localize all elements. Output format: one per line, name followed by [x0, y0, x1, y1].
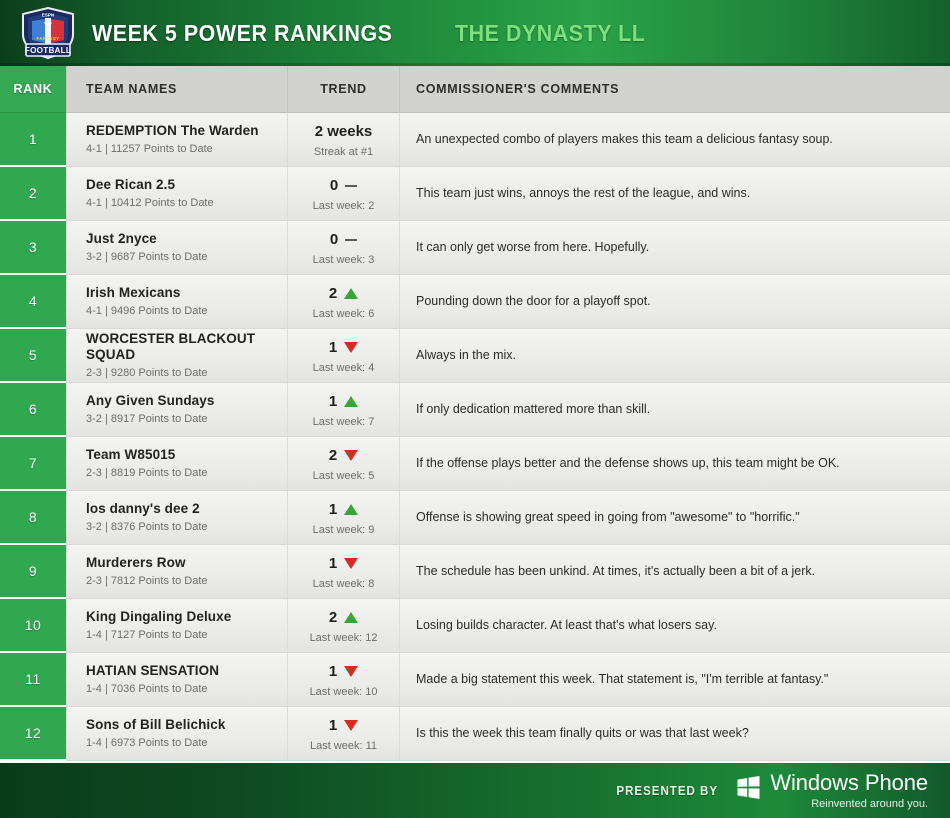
rank-cell: 2: [0, 167, 66, 221]
trend-subtext: Last week: 8: [313, 578, 375, 590]
team-record-points: 3-2 | 8376 Points to Date: [86, 521, 287, 534]
trend-up-icon: [344, 612, 358, 623]
trend-up-icon: [344, 396, 358, 407]
trend-value: 2: [329, 447, 337, 464]
sponsor-text: Windows Phone Reinvented around you.: [770, 772, 928, 810]
column-header-team-names[interactable]: TEAM NAMES: [66, 66, 287, 113]
team-name: Murderers Row: [86, 555, 287, 571]
trend-cell: 1Last week: 10: [287, 653, 399, 707]
team-record-points: 3-2 | 9687 Points to Date: [86, 251, 287, 264]
svg-text:ESPN: ESPN: [42, 12, 55, 17]
league-name: THE DYNASTY LL: [455, 20, 645, 47]
commissioner-comment: Pounding down the door for a playoff spo…: [416, 293, 936, 310]
trend-value-row: 2: [329, 284, 358, 303]
commissioner-comment: Always in the mix.: [416, 347, 936, 364]
trend-value: 1: [329, 501, 337, 518]
trend-value: 1: [329, 339, 337, 356]
column-header-rank[interactable]: RANK: [0, 66, 66, 113]
table-row[interactable]: 3Just 2nyce3-2 | 9687 Points to Date0Las…: [0, 221, 950, 275]
trend-value-row: 1: [329, 554, 358, 573]
table-row[interactable]: 2Dee Rican 2.54-1 | 10412 Points to Date…: [0, 167, 950, 221]
trend-cell: 0Last week: 2: [287, 167, 399, 221]
commissioner-comment: This team just wins, annoys the rest of …: [416, 185, 936, 202]
table-row[interactable]: 6Any Given Sundays3-2 | 8917 Points to D…: [0, 383, 950, 437]
svg-text:FOOTBALL: FOOTBALL: [25, 46, 71, 55]
commissioner-comment: If only dedication mattered more than sk…: [416, 401, 936, 418]
power-rankings-page: ESPN FANTASY FOOTBALL WEEK 5 POWER RANKI…: [0, 0, 950, 818]
team-cell[interactable]: Sons of Bill Belichick1-4 | 6973 Points …: [66, 707, 287, 761]
commissioner-comment: Is this the week this team finally quits…: [416, 725, 936, 742]
table-row[interactable]: 11HATIAN SENSATION1-4 | 7036 Points to D…: [0, 653, 950, 707]
comment-cell: Always in the mix.: [399, 329, 950, 383]
team-cell[interactable]: los danny's dee 23-2 | 8376 Points to Da…: [66, 491, 287, 545]
page-title: WEEK 5 POWER RANKINGS: [92, 20, 393, 47]
rank-cell: 6: [0, 383, 66, 437]
team-name: Irish Mexicans: [86, 285, 287, 301]
trend-value-row: 0: [330, 230, 357, 249]
team-record-points: 2-3 | 8819 Points to Date: [86, 467, 287, 480]
trend-value-row: 2 weeks: [315, 122, 373, 141]
table-row[interactable]: 7Team W850152-3 | 8819 Points to Date2La…: [0, 437, 950, 491]
windows-logo-icon: [736, 775, 761, 800]
table-body: 1REDEMPTION The Warden4-1 | 11257 Points…: [0, 113, 950, 761]
comment-cell: This team just wins, annoys the rest of …: [399, 167, 950, 221]
comment-cell: If the offense plays better and the defe…: [399, 437, 950, 491]
trend-cell: 1Last week: 11: [287, 707, 399, 761]
page-header: ESPN FANTASY FOOTBALL WEEK 5 POWER RANKI…: [0, 0, 950, 66]
commissioner-comment: Made a big statement this week. That sta…: [416, 671, 936, 688]
trend-cell: 0Last week: 3: [287, 221, 399, 275]
rank-cell: 4: [0, 275, 66, 329]
team-name: REDEMPTION The Warden: [86, 123, 287, 139]
sponsor-lockup[interactable]: Windows Phone Reinvented around you.: [736, 772, 928, 810]
trend-value: 2: [329, 285, 337, 302]
trend-value: 2: [329, 609, 337, 626]
commissioner-comment: An unexpected combo of players makes thi…: [416, 131, 936, 148]
espn-fantasy-football-logo-icon: ESPN FANTASY FOOTBALL: [19, 7, 77, 59]
team-record-points: 1-4 | 7036 Points to Date: [86, 683, 287, 696]
comment-cell: If only dedication mattered more than sk…: [399, 383, 950, 437]
trend-value: 1: [329, 393, 337, 410]
comment-cell: Is this the week this team finally quits…: [399, 707, 950, 761]
team-name: HATIAN SENSATION: [86, 663, 287, 679]
team-record-points: 4-1 | 9496 Points to Date: [86, 305, 287, 318]
trend-down-icon: [344, 450, 358, 461]
team-record-points: 1-4 | 7127 Points to Date: [86, 629, 287, 642]
trend-cell: 2 weeksStreak at #1: [287, 113, 399, 167]
trend-value: 0: [330, 177, 338, 194]
trend-value-row: 2: [329, 446, 358, 465]
table-row[interactable]: 9Murderers Row2-3 | 7812 Points to Date1…: [0, 545, 950, 599]
trend-value-row: 1: [329, 716, 358, 735]
trend-flat-icon: [345, 185, 357, 187]
trend-subtext: Last week: 10: [310, 686, 378, 698]
trend-value: 2 weeks: [315, 123, 373, 140]
commissioner-comment: If the offense plays better and the defe…: [416, 455, 936, 472]
team-name: Team W85015: [86, 447, 287, 463]
team-name: Sons of Bill Belichick: [86, 717, 287, 733]
trend-subtext: Last week: 12: [310, 632, 378, 644]
team-cell[interactable]: Irish Mexicans4-1 | 9496 Points to Date: [66, 275, 287, 329]
team-name: Just 2nyce: [86, 231, 287, 247]
team-record-points: 1-4 | 6973 Points to Date: [86, 737, 287, 750]
team-cell[interactable]: HATIAN SENSATION1-4 | 7036 Points to Dat…: [66, 653, 287, 707]
commissioner-comment: Offense is showing great speed in going …: [416, 509, 936, 526]
comment-cell: Offense is showing great speed in going …: [399, 491, 950, 545]
rank-cell: 9: [0, 545, 66, 599]
rank-cell: 10: [0, 599, 66, 653]
comment-cell: An unexpected combo of players makes thi…: [399, 113, 950, 167]
comment-cell: Pounding down the door for a playoff spo…: [399, 275, 950, 329]
rank-cell: 7: [0, 437, 66, 491]
team-record-points: 2-3 | 9280 Points to Date: [86, 367, 287, 380]
commissioner-comment: The schedule has been unkind. At times, …: [416, 563, 936, 580]
logo-container: ESPN FANTASY FOOTBALL: [10, 7, 86, 59]
rank-cell: 5: [0, 329, 66, 383]
comment-cell: Made a big statement this week. That sta…: [399, 653, 950, 707]
team-cell[interactable]: Team W850152-3 | 8819 Points to Date: [66, 437, 287, 491]
trend-value-row: 1: [329, 662, 358, 681]
trend-down-icon: [344, 342, 358, 353]
trend-value-row: 1: [329, 338, 358, 357]
trend-cell: 1Last week: 4: [287, 329, 399, 383]
team-cell[interactable]: King Dingaling Deluxe1-4 | 7127 Points t…: [66, 599, 287, 653]
trend-subtext: Last week: 6: [313, 308, 375, 320]
comment-cell: It can only get worse from here. Hopeful…: [399, 221, 950, 275]
trend-cell: 1Last week: 8: [287, 545, 399, 599]
rank-cell: 1: [0, 113, 66, 167]
team-cell[interactable]: REDEMPTION The Warden4-1 | 11257 Points …: [66, 113, 287, 167]
team-name: King Dingaling Deluxe: [86, 609, 287, 625]
rankings-table: RANK TEAM NAMES TREND COMMISSIONER'S COM…: [0, 66, 950, 761]
team-cell[interactable]: Just 2nyce3-2 | 9687 Points to Date: [66, 221, 287, 275]
team-name: Dee Rican 2.5: [86, 177, 287, 193]
trend-subtext: Last week: 11: [310, 740, 377, 752]
trend-up-icon: [344, 504, 358, 515]
svg-text:FANTASY: FANTASY: [37, 36, 60, 41]
commissioner-comment: Losing builds character. At least that's…: [416, 617, 936, 634]
presented-by-label: PRESENTED BY: [616, 784, 718, 798]
team-record-points: 4-1 | 11257 Points to Date: [86, 143, 287, 156]
table-row[interactable]: 4Irish Mexicans4-1 | 9496 Points to Date…: [0, 275, 950, 329]
page-footer: PRESENTED BY Windows Phone Reinvented ar…: [0, 763, 950, 818]
trend-cell: 1Last week: 9: [287, 491, 399, 545]
trend-flat-icon: [345, 239, 357, 241]
team-name: WORCESTER BLACKOUT SQUAD: [86, 331, 287, 363]
table-row[interactable]: 5WORCESTER BLACKOUT SQUAD2-3 | 9280 Poin…: [0, 329, 950, 383]
team-cell[interactable]: Dee Rican 2.54-1 | 10412 Points to Date: [66, 167, 287, 221]
trend-down-icon: [344, 720, 358, 731]
trend-value-row: 0: [330, 176, 357, 195]
table-row[interactable]: 8los danny's dee 23-2 | 8376 Points to D…: [0, 491, 950, 545]
team-name: Any Given Sundays: [86, 393, 287, 409]
trend-subtext: Last week: 2: [313, 200, 375, 212]
table-header-row: RANK TEAM NAMES TREND COMMISSIONER'S COM…: [0, 66, 950, 113]
team-cell[interactable]: Any Given Sundays3-2 | 8917 Points to Da…: [66, 383, 287, 437]
commissioner-comment: It can only get worse from here. Hopeful…: [416, 239, 936, 256]
sponsor-tagline: Reinvented around you.: [770, 798, 928, 810]
trend-value-row: 2: [329, 608, 358, 627]
comment-cell: Losing builds character. At least that's…: [399, 599, 950, 653]
trend-cell: 1Last week: 7: [287, 383, 399, 437]
trend-value: 0: [330, 231, 338, 248]
trend-subtext: Last week: 7: [313, 416, 375, 428]
team-record-points: 4-1 | 10412 Points to Date: [86, 197, 287, 210]
team-name: los danny's dee 2: [86, 501, 287, 517]
rank-cell: 11: [0, 653, 66, 707]
column-header-trend[interactable]: TREND: [287, 66, 399, 113]
rank-cell: 12: [0, 707, 66, 761]
trend-value: 1: [329, 717, 337, 734]
trend-up-icon: [344, 288, 358, 299]
trend-value: 1: [329, 555, 337, 572]
trend-cell: 2Last week: 6: [287, 275, 399, 329]
trend-cell: 2Last week: 5: [287, 437, 399, 491]
team-record-points: 2-3 | 7812 Points to Date: [86, 575, 287, 588]
column-header-comments[interactable]: COMMISSIONER'S COMMENTS: [399, 66, 950, 113]
table-row[interactable]: 1REDEMPTION The Warden4-1 | 11257 Points…: [0, 113, 950, 167]
sponsor-name: Windows Phone: [770, 772, 928, 794]
rank-cell: 8: [0, 491, 66, 545]
trend-value: 1: [329, 663, 337, 680]
team-cell[interactable]: Murderers Row2-3 | 7812 Points to Date: [66, 545, 287, 599]
trend-subtext: Last week: 4: [313, 362, 375, 374]
rank-cell: 3: [0, 221, 66, 275]
trend-value-row: 1: [329, 392, 358, 411]
trend-down-icon: [344, 558, 358, 569]
trend-subtext: Streak at #1: [314, 146, 373, 158]
trend-value-row: 1: [329, 500, 358, 519]
comment-cell: The schedule has been unkind. At times, …: [399, 545, 950, 599]
trend-down-icon: [344, 666, 358, 677]
table-row[interactable]: 12Sons of Bill Belichick1-4 | 6973 Point…: [0, 707, 950, 761]
team-cell[interactable]: WORCESTER BLACKOUT SQUAD2-3 | 9280 Point…: [66, 329, 287, 383]
trend-subtext: Last week: 3: [313, 254, 375, 266]
trend-cell: 2Last week: 12: [287, 599, 399, 653]
trend-subtext: Last week: 5: [313, 470, 375, 482]
table-row[interactable]: 10King Dingaling Deluxe1-4 | 7127 Points…: [0, 599, 950, 653]
trend-subtext: Last week: 9: [313, 524, 375, 536]
team-record-points: 3-2 | 8917 Points to Date: [86, 413, 287, 426]
